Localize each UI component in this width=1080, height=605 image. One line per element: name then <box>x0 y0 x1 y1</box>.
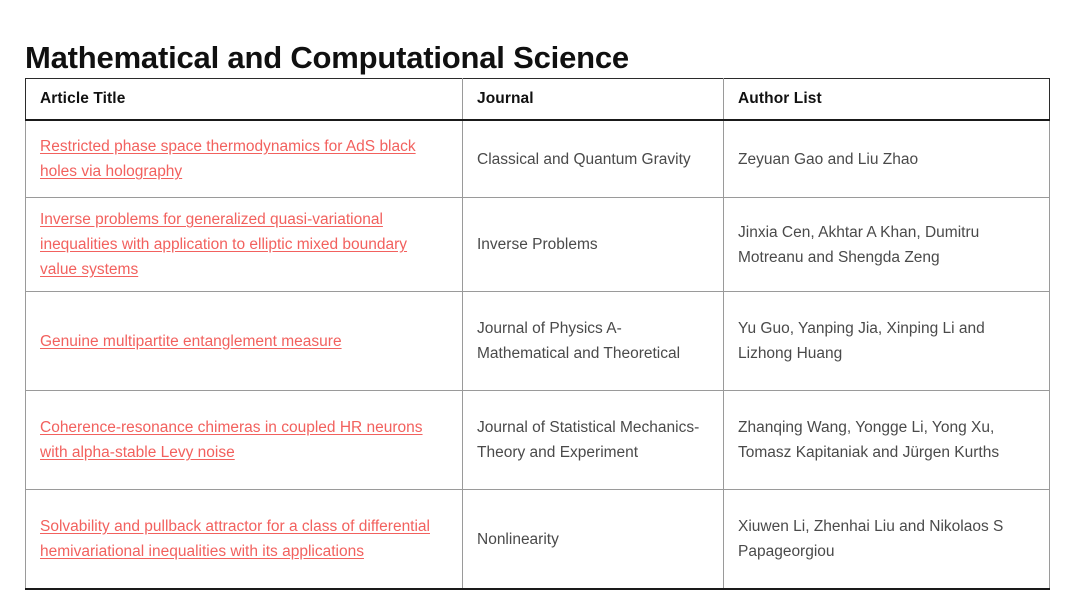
cell-journal: Inverse Problems <box>463 198 724 292</box>
table-row: Restricted phase space thermodynamics fo… <box>26 120 1050 198</box>
page-root: Mathematical and Computational Science A… <box>0 0 1080 605</box>
cell-journal: Classical and Quantum Gravity <box>463 120 724 198</box>
table-header: Article Title Journal Author List <box>26 79 1050 121</box>
table-row: Genuine multipartite entanglement measur… <box>26 292 1050 391</box>
cell-author-list: Zeyuan Gao and Liu Zhao <box>724 120 1050 198</box>
cell-article-title: Restricted phase space thermodynamics fo… <box>26 120 463 198</box>
column-header-article-title: Article Title <box>26 79 463 121</box>
table-header-row: Article Title Journal Author List <box>26 79 1050 121</box>
cell-journal: Journal of Statistical Mechanics-Theory … <box>463 391 724 490</box>
cell-journal: Nonlinearity <box>463 490 724 590</box>
cell-author-list: Zhanqing Wang, Yongge Li, Yong Xu, Tomas… <box>724 391 1050 490</box>
table-body: Restricted phase space thermodynamics fo… <box>26 120 1050 589</box>
cell-article-title: Solvability and pullback attractor for a… <box>26 490 463 590</box>
article-title-link[interactable]: Coherence-resonance chimeras in coupled … <box>40 419 423 461</box>
table-row: Solvability and pullback attractor for a… <box>26 490 1050 590</box>
table-row: Inverse problems for generalized quasi-v… <box>26 198 1050 292</box>
article-title-link[interactable]: Genuine multipartite entanglement measur… <box>40 333 342 350</box>
cell-article-title: Inverse problems for generalized quasi-v… <box>26 198 463 292</box>
cell-author-list: Xiuwen Li, Zhenhai Liu and Nikolaos S Pa… <box>724 490 1050 590</box>
cell-author-list: Yu Guo, Yanping Jia, Xinping Li and Lizh… <box>724 292 1050 391</box>
page-title: Mathematical and Computational Science <box>25 38 629 78</box>
article-title-link[interactable]: Inverse problems for generalized quasi-v… <box>40 211 407 278</box>
column-header-author-list: Author List <box>724 79 1050 121</box>
articles-table: Article Title Journal Author List Restri… <box>25 78 1050 590</box>
article-title-link[interactable]: Solvability and pullback attractor for a… <box>40 518 430 560</box>
table-row: Coherence-resonance chimeras in coupled … <box>26 391 1050 490</box>
cell-author-list: Jinxia Cen, Akhtar A Khan, Dumitru Motre… <box>724 198 1050 292</box>
cell-article-title: Coherence-resonance chimeras in coupled … <box>26 391 463 490</box>
article-title-link[interactable]: Restricted phase space thermodynamics fo… <box>40 138 416 180</box>
cell-article-title: Genuine multipartite entanglement measur… <box>26 292 463 391</box>
column-header-journal: Journal <box>463 79 724 121</box>
cell-journal: Journal of Physics A-Mathematical and Th… <box>463 292 724 391</box>
